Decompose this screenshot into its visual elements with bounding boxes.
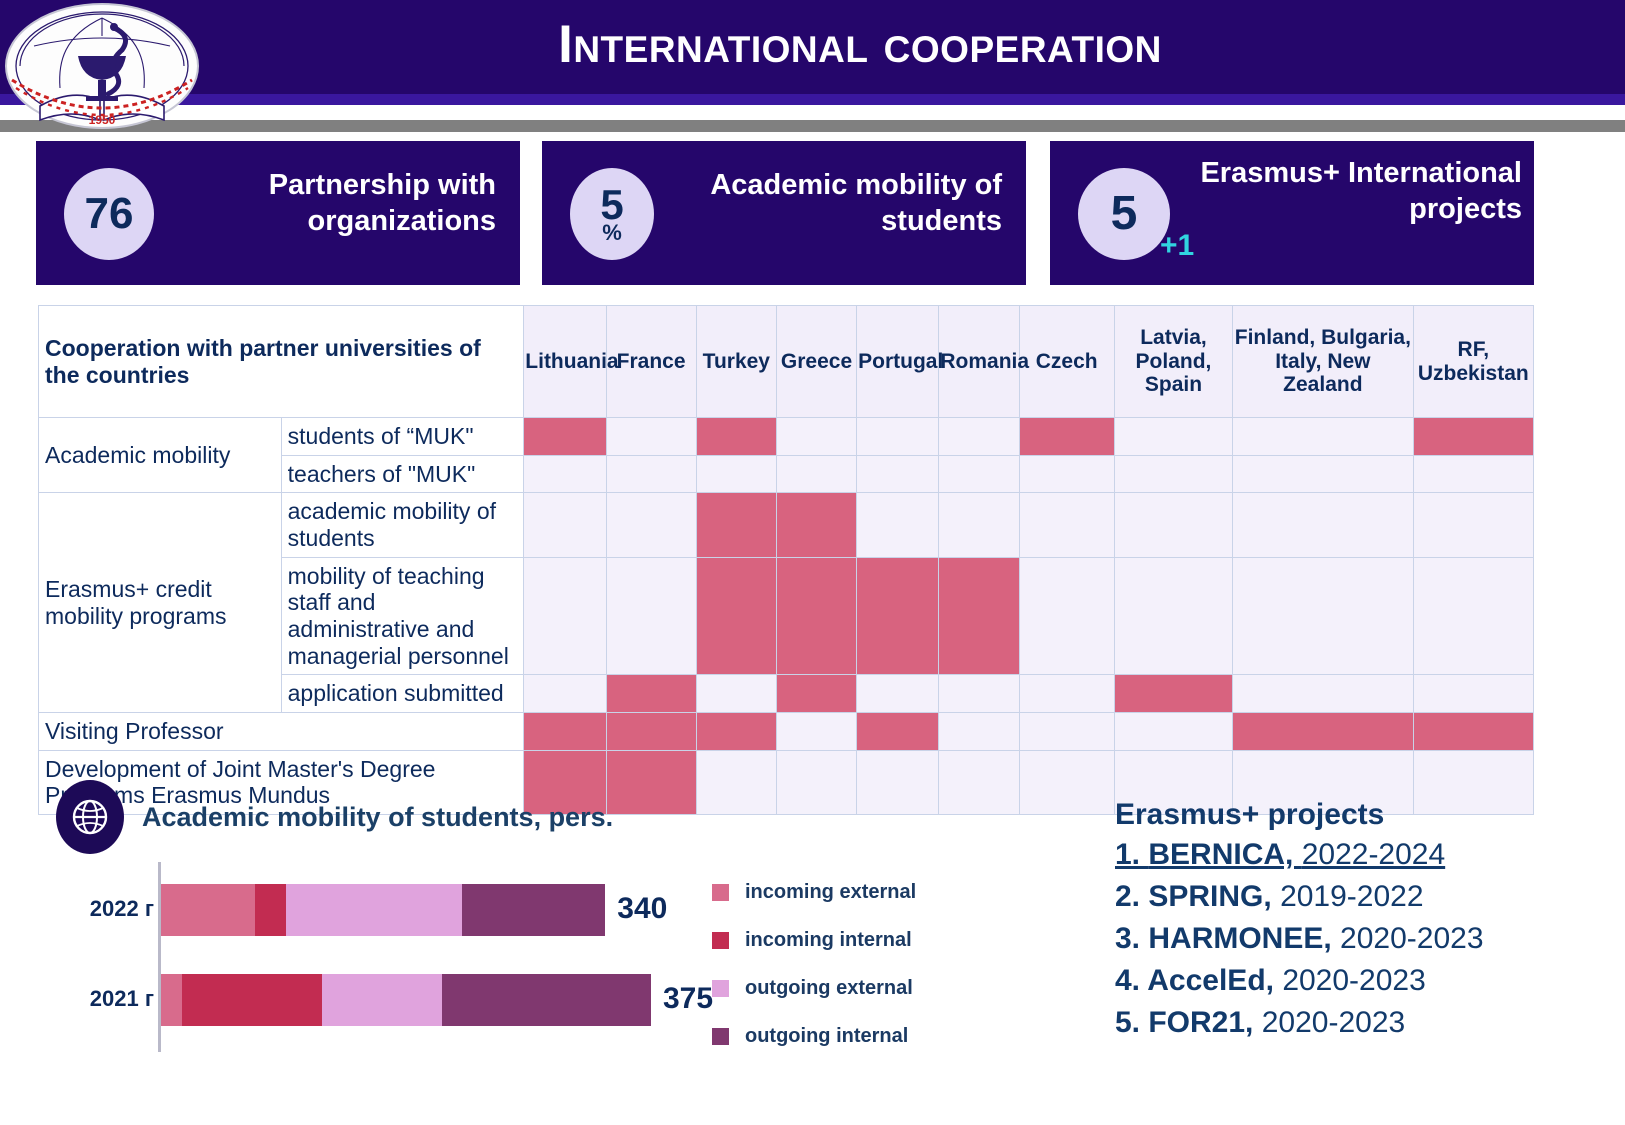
matrix-cell-empty — [1233, 675, 1413, 713]
row-sublabel: students of “MUK" — [281, 418, 524, 456]
project-index: 3. — [1115, 922, 1148, 955]
matrix-cell-empty — [524, 455, 606, 493]
page-title: International cooperation — [210, 14, 1510, 75]
matrix-cell-empty — [939, 493, 1019, 557]
matrix-cell-filled — [696, 713, 776, 751]
matrix-cell-empty — [696, 455, 776, 493]
matrix-cell-empty — [857, 493, 939, 557]
stat-value: 76 — [85, 193, 134, 235]
legend-item: outgoing internal — [712, 1012, 982, 1060]
chart-category-label: 2021 г — [80, 986, 154, 1012]
row-sublabel: academic mobility of students — [281, 493, 524, 557]
matrix-cell-empty — [1019, 713, 1114, 751]
project-item[interactable]: 5. FOR21, 2020-2023 — [1115, 1006, 1595, 1040]
matrix-cell-filled — [606, 675, 696, 713]
project-item[interactable]: 2. SPRING, 2019-2022 — [1115, 880, 1595, 914]
legend-label: incoming internal — [745, 929, 912, 952]
stat-value: 5 — [1111, 191, 1138, 237]
matrix-cell-filled — [696, 493, 776, 557]
matrix-cell-filled — [857, 557, 939, 675]
stat-label: Academic mobility of students — [672, 167, 1002, 240]
table-column-header: Finland, Bulgaria, Italy, New Zealand — [1233, 306, 1413, 418]
matrix-cell-filled — [776, 557, 856, 675]
matrix-cell-filled — [776, 493, 856, 557]
stat-card-partnership: 76 Partnership with organizations — [36, 141, 520, 285]
table-row: Erasmus+ credit mobility programsacademi… — [39, 493, 1534, 557]
project-index: 5. — [1115, 1006, 1148, 1039]
legend-item: outgoing external — [712, 964, 982, 1012]
chart-bar-segment — [462, 884, 606, 936]
project-years: 2020-2023 — [1340, 922, 1483, 955]
table-column-header: Romania — [939, 306, 1019, 418]
matrix-cell-empty — [939, 750, 1019, 814]
matrix-cell-empty — [606, 493, 696, 557]
legend-label: outgoing internal — [745, 1025, 908, 1048]
matrix-cell-empty — [606, 455, 696, 493]
stat-value-bubble: 76 — [64, 168, 154, 260]
matrix-cell-filled — [857, 713, 939, 751]
matrix-cell-filled — [1413, 418, 1533, 456]
logo-year: 1950 — [89, 113, 116, 127]
table-row: Academic mobilitystudents of “MUK" — [39, 418, 1534, 456]
legend-swatch — [712, 932, 729, 949]
slide-root: International cooperation 1950 — [0, 0, 1625, 1125]
project-name: BERNICA, — [1148, 838, 1301, 871]
project-name: SPRING, — [1148, 880, 1280, 913]
chart-bar-segment — [286, 884, 461, 936]
stat-delta-badge: +1 — [1160, 229, 1194, 263]
chart-bar-segment — [161, 974, 182, 1026]
matrix-cell-empty — [696, 675, 776, 713]
chart-bar-segment — [255, 884, 286, 936]
stat-unit: % — [602, 223, 622, 244]
matrix-cell-empty — [1413, 675, 1533, 713]
project-item[interactable]: 1. BERNICA, 2022-2024 — [1115, 838, 1595, 872]
chart-bar-segment — [322, 974, 442, 1026]
row-label: Visiting Professor — [39, 713, 524, 751]
chart-total-label: 375 — [663, 982, 713, 1016]
table-column-header: Turkey — [696, 306, 776, 418]
legend-label: outgoing external — [745, 977, 913, 1000]
matrix-cell-empty — [776, 455, 856, 493]
matrix-cell-empty — [1114, 493, 1232, 557]
university-logo: 1950 — [4, 2, 200, 130]
matrix-cell-empty — [1019, 557, 1114, 675]
matrix-cell-filled — [1413, 713, 1533, 751]
cooperation-matrix: Cooperation with partner universities of… — [38, 305, 1534, 815]
project-name: AccelEd, — [1147, 964, 1282, 997]
matrix-cell-empty — [1413, 557, 1533, 675]
chart-bar-segment — [442, 974, 651, 1026]
matrix-cell-empty — [857, 675, 939, 713]
matrix-cell-filled — [939, 557, 1019, 675]
matrix-cell-filled — [606, 713, 696, 751]
table-corner-header: Cooperation with partner universities of… — [39, 306, 524, 418]
table-column-header: Portugal — [857, 306, 939, 418]
matrix-cell-empty — [1114, 713, 1232, 751]
erasmus-projects-panel: Erasmus+ projects 1. BERNICA, 2022-20242… — [1115, 798, 1595, 1048]
matrix-cell-empty — [939, 455, 1019, 493]
header-gray-divider — [0, 120, 1625, 132]
matrix-cell-empty — [1233, 455, 1413, 493]
matrix-cell-empty — [1233, 557, 1413, 675]
chart-bar-row: 2022 г340 — [80, 884, 720, 936]
projects-title: Erasmus+ projects — [1115, 798, 1595, 832]
matrix-cell-empty — [524, 557, 606, 675]
table-body: Academic mobilitystudents of “MUK"teache… — [39, 418, 1534, 815]
matrix-cell-empty — [1413, 455, 1533, 493]
table-head: Cooperation with partner universities of… — [39, 306, 1534, 418]
matrix-cell-empty — [1114, 455, 1232, 493]
matrix-cell-empty — [776, 750, 856, 814]
project-item[interactable]: 3. HARMONEE, 2020-2023 — [1115, 922, 1595, 956]
project-index: 1. — [1115, 838, 1148, 871]
project-index: 2. — [1115, 880, 1148, 913]
legend-swatch — [712, 980, 729, 997]
chart-legend: incoming externalincoming internaloutgoi… — [712, 868, 982, 1060]
matrix-cell-empty — [939, 713, 1019, 751]
matrix-cell-empty — [606, 557, 696, 675]
table-column-header: France — [606, 306, 696, 418]
matrix-cell-filled — [1114, 675, 1232, 713]
matrix-cell-filled — [606, 750, 696, 814]
matrix-cell-empty — [1019, 750, 1114, 814]
project-index: 4. — [1115, 964, 1147, 997]
row-sublabel: mobility of teaching staff and administr… — [281, 557, 524, 675]
matrix-cell-empty — [1019, 455, 1114, 493]
chart-total-label: 340 — [617, 892, 667, 926]
project-item[interactable]: 4. AccelEd, 2020-2023 — [1115, 964, 1595, 998]
chart-header: Academic mobility of students, pers. — [56, 780, 613, 854]
matrix-cell-empty — [776, 713, 856, 751]
legend-swatch — [712, 1028, 729, 1045]
matrix-cell-empty — [696, 750, 776, 814]
matrix-cell-empty — [857, 455, 939, 493]
matrix-cell-empty — [1114, 557, 1232, 675]
row-group-label: Erasmus+ credit mobility programs — [39, 493, 282, 713]
matrix-cell-filled — [696, 418, 776, 456]
matrix-cell-empty — [857, 418, 939, 456]
cooperation-table: Cooperation with partner universities of… — [38, 305, 1534, 815]
chart-bar-segment — [161, 884, 255, 936]
matrix-cell-empty — [1233, 493, 1413, 557]
table-column-header: Lithuania — [524, 306, 606, 418]
matrix-cell-filled — [696, 557, 776, 675]
project-years: 2019-2022 — [1280, 880, 1423, 913]
row-sublabel: teachers of "MUK" — [281, 455, 524, 493]
legend-item: incoming external — [712, 868, 982, 916]
matrix-cell-empty — [1413, 493, 1533, 557]
project-name: HARMONEE, — [1148, 922, 1340, 955]
matrix-cell-empty — [939, 675, 1019, 713]
matrix-cell-empty — [857, 750, 939, 814]
matrix-cell-filled — [1233, 713, 1413, 751]
globe-icon — [56, 780, 124, 854]
chart-stacked-bar — [161, 974, 651, 1026]
project-years: 2022-2024 — [1302, 838, 1445, 871]
table-header-row: Cooperation with partner universities of… — [39, 306, 1534, 418]
table-column-header: Czech — [1019, 306, 1114, 418]
stat-value-bubble: 5 % — [570, 168, 654, 260]
matrix-cell-empty — [1019, 493, 1114, 557]
row-group-label: Academic mobility — [39, 418, 282, 493]
stat-card-academic-mobility: 5 % Academic mobility of students — [542, 141, 1026, 285]
table-column-header: Greece — [776, 306, 856, 418]
legend-label: incoming external — [745, 881, 916, 904]
mobility-bar-chart: 2022 г3402021 г375 — [80, 862, 720, 1052]
legend-swatch — [712, 884, 729, 901]
matrix-cell-empty — [1233, 418, 1413, 456]
chart-bar-segment — [182, 974, 322, 1026]
stat-label: Erasmus+ International projects — [1180, 155, 1522, 228]
stat-value: 5 — [600, 185, 623, 225]
matrix-cell-empty — [776, 418, 856, 456]
matrix-cell-empty — [606, 418, 696, 456]
table-column-header: RF, Uzbekistan — [1413, 306, 1533, 418]
project-years: 2020-2023 — [1282, 964, 1425, 997]
matrix-cell-filled — [524, 713, 606, 751]
matrix-cell-filled — [1019, 418, 1114, 456]
chart-stacked-bar — [161, 884, 605, 936]
stat-value-bubble: 5 — [1078, 168, 1170, 260]
table-column-header: Latvia, Poland, Spain — [1114, 306, 1232, 418]
chart-title: Academic mobility of students, pers. — [142, 802, 613, 833]
matrix-cell-empty — [939, 418, 1019, 456]
header-band-underline — [0, 94, 1625, 105]
projects-list: 1. BERNICA, 2022-20242. SPRING, 2019-202… — [1115, 838, 1595, 1040]
matrix-cell-filled — [524, 418, 606, 456]
matrix-cell-empty — [524, 675, 606, 713]
chart-category-label: 2022 г — [80, 896, 154, 922]
chart-bar-row: 2021 г375 — [80, 974, 720, 1026]
matrix-cell-filled — [776, 675, 856, 713]
stat-card-erasmus-projects: 5 +1 Erasmus+ International projects — [1050, 141, 1534, 285]
matrix-cell-empty — [524, 493, 606, 557]
legend-item: incoming internal — [712, 916, 982, 964]
matrix-cell-empty — [1019, 675, 1114, 713]
project-name: FOR21, — [1148, 1006, 1261, 1039]
row-sublabel: application submitted — [281, 675, 524, 713]
table-row: Visiting Professor — [39, 713, 1534, 751]
project-years: 2020-2023 — [1262, 1006, 1405, 1039]
stat-label: Partnership with organizations — [166, 167, 496, 240]
matrix-cell-empty — [1114, 418, 1232, 456]
